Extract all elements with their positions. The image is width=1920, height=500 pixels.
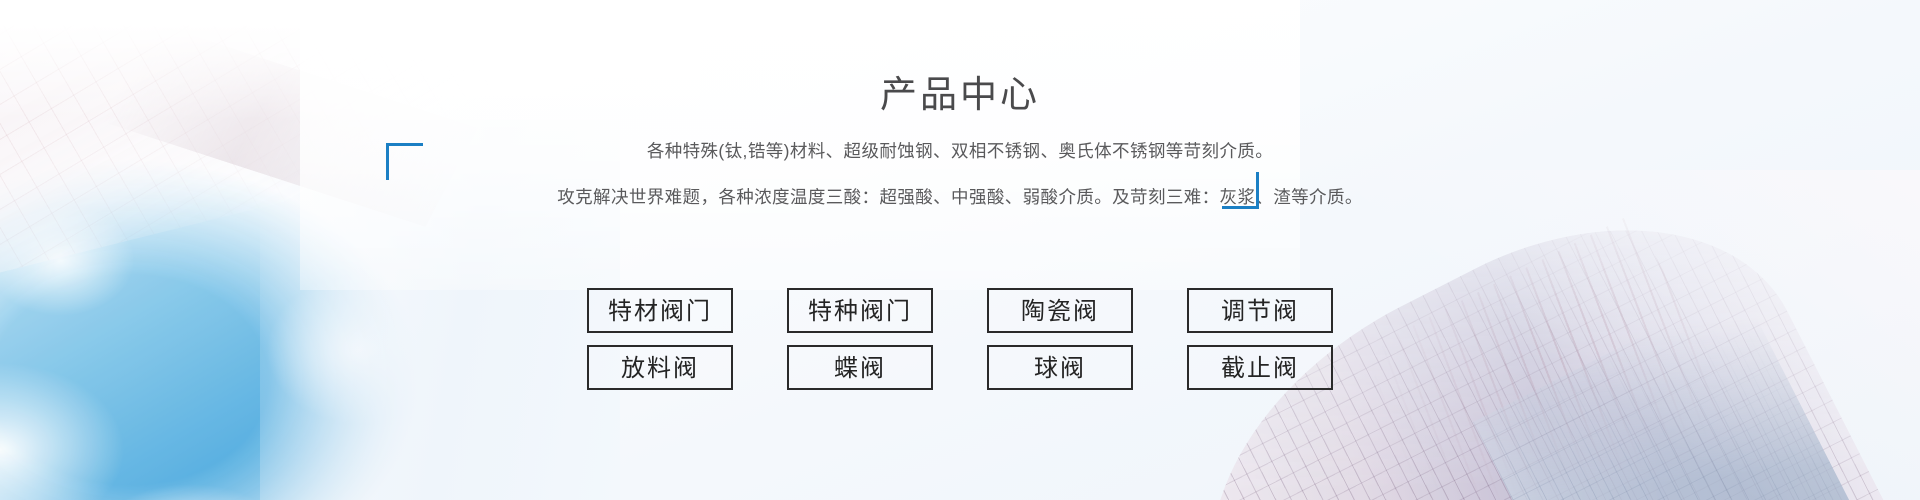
- category-button-special-material-valve[interactable]: 特材阀门: [587, 288, 733, 333]
- banner-content: 产品中心 各种特殊(钛,锆等)材料、超级耐蚀钢、双相不锈钢、奥氏体不锈钢等苛刻介…: [0, 0, 1920, 500]
- page-title: 产品中心: [0, 73, 1920, 117]
- description-line-2: 攻克解决世界难题，各种浓度温度三酸：超强酸、中强酸、弱酸介质。及苛刻三难：灰浆、…: [0, 174, 1920, 220]
- product-center-banner: 产品中心 各种特殊(钛,锆等)材料、超级耐蚀钢、双相不锈钢、奥氏体不锈钢等苛刻介…: [0, 0, 1920, 500]
- product-category-grid: 特材阀门 特种阀门 陶瓷阀 调节阀 放料阀 蝶阀 球阀 截止阀: [0, 288, 1920, 390]
- category-button-ceramic-valve[interactable]: 陶瓷阀: [987, 288, 1133, 333]
- category-button-globe-valve[interactable]: 截止阀: [1187, 345, 1333, 390]
- category-button-special-valve[interactable]: 特种阀门: [787, 288, 933, 333]
- description-line-1: 各种特殊(钛,锆等)材料、超级耐蚀钢、双相不锈钢、奥氏体不锈钢等苛刻介质。: [0, 128, 1920, 174]
- description-block: 各种特殊(钛,锆等)材料、超级耐蚀钢、双相不锈钢、奥氏体不锈钢等苛刻介质。 攻克…: [0, 128, 1920, 220]
- category-button-discharge-valve[interactable]: 放料阀: [587, 345, 733, 390]
- category-button-ball-valve[interactable]: 球阀: [987, 345, 1133, 390]
- bracket-bottom-right-decoration: [1222, 172, 1259, 209]
- bracket-top-left-decoration: [386, 143, 423, 180]
- product-category-row-2: 放料阀 蝶阀 球阀 截止阀: [587, 345, 1333, 390]
- product-category-row-1: 特材阀门 特种阀门 陶瓷阀 调节阀: [587, 288, 1333, 333]
- category-button-butterfly-valve[interactable]: 蝶阀: [787, 345, 933, 390]
- category-button-control-valve[interactable]: 调节阀: [1187, 288, 1333, 333]
